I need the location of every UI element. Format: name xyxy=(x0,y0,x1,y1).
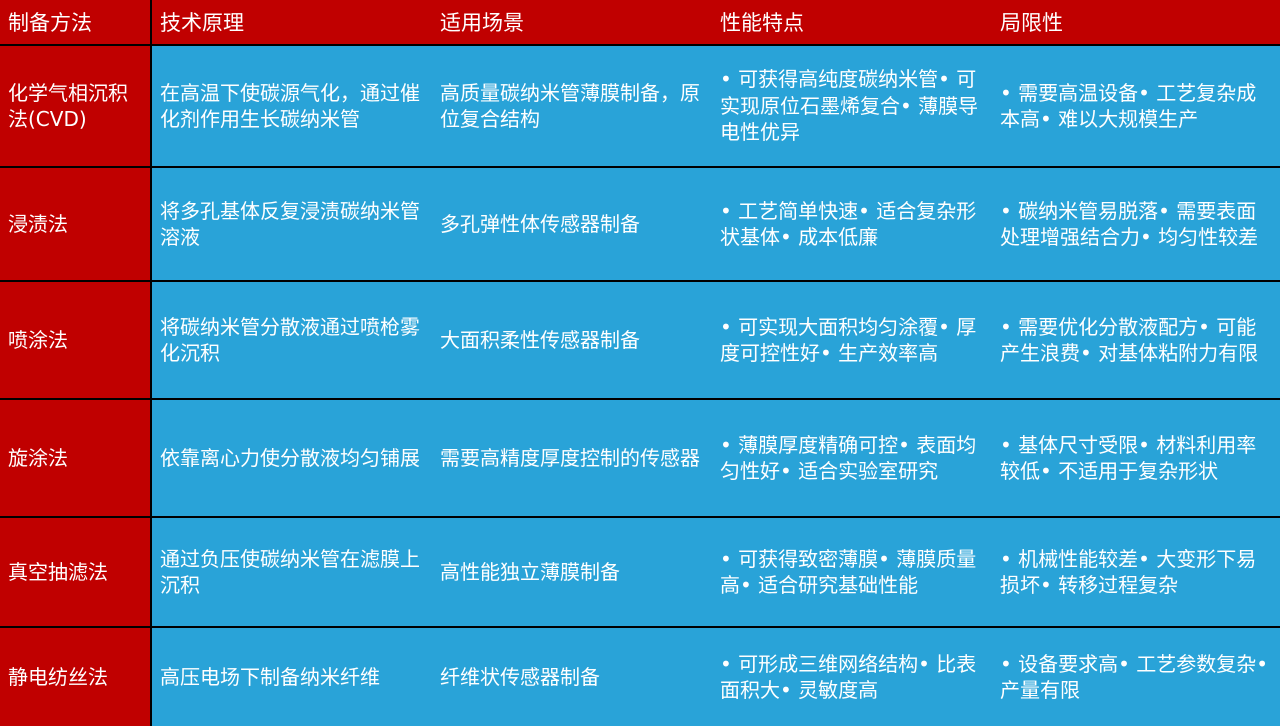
cell-limitation: • 需要高温设备• 工艺复杂成本高• 难以大规模生产 xyxy=(992,46,1280,166)
cell-limitation: • 机械性能较差• 大变形下易损坏• 转移过程复杂 xyxy=(992,518,1280,626)
cell-limitation: • 需要优化分散液配方• 可能产生浪费• 对基体粘附力有限 xyxy=(992,282,1280,398)
column-header-limitation: 局限性 xyxy=(992,0,1280,44)
cell-principle: 高压电场下制备纳米纤维 xyxy=(152,628,432,726)
cell-principle: 将多孔基体反复浸渍碳纳米管溶液 xyxy=(152,168,432,280)
cell-scenario: 多孔弹性体传感器制备 xyxy=(432,168,712,280)
cell-principle: 将碳纳米管分散液通过喷枪雾化沉积 xyxy=(152,282,432,398)
cell-principle: 在高温下使碳源气化，通过催化剂作用生长碳纳米管 xyxy=(152,46,432,166)
cell-limitation: • 设备要求高• 工艺参数复杂• 产量有限 xyxy=(992,628,1280,726)
cell-method: 旋涂法 xyxy=(0,400,150,516)
cell-limitation: • 碳纳米管易脱落• 需要表面处理增强结合力• 均匀性较差 xyxy=(992,168,1280,280)
cell-scenario: 需要高精度厚度控制的传感器 xyxy=(432,400,712,516)
column-header-performance: 性能特点 xyxy=(712,0,992,44)
cell-scenario: 高性能独立薄膜制备 xyxy=(432,518,712,626)
cell-scenario: 纤维状传感器制备 xyxy=(432,628,712,726)
table-row: 浸渍法 将多孔基体反复浸渍碳纳米管溶液 多孔弹性体传感器制备 • 工艺简单快速•… xyxy=(0,166,1280,280)
cell-performance: • 可形成三维网络结构• 比表面积大• 灵敏度高 xyxy=(712,628,992,726)
cell-principle: 依靠离心力使分散液均匀铺展 xyxy=(152,400,432,516)
table-row: 旋涂法 依靠离心力使分散液均匀铺展 需要高精度厚度控制的传感器 • 薄膜厚度精确… xyxy=(0,398,1280,516)
cell-performance: • 工艺简单快速• 适合复杂形状基体• 成本低廉 xyxy=(712,168,992,280)
table-row: 真空抽滤法 通过负压使碳纳米管在滤膜上沉积 高性能独立薄膜制备 • 可获得致密薄… xyxy=(0,516,1280,626)
table-row: 静电纺丝法 高压电场下制备纳米纤维 纤维状传感器制备 • 可形成三维网络结构• … xyxy=(0,626,1280,726)
cell-scenario: 大面积柔性传感器制备 xyxy=(432,282,712,398)
cell-method: 静电纺丝法 xyxy=(0,628,150,726)
table-row: 喷涂法 将碳纳米管分散液通过喷枪雾化沉积 大面积柔性传感器制备 • 可实现大面积… xyxy=(0,280,1280,398)
table-body: 化学气相沉积法(CVD) 在高温下使碳源气化，通过催化剂作用生长碳纳米管 高质量… xyxy=(0,44,1280,726)
column-header-method: 制备方法 xyxy=(0,0,150,44)
table-header-row: 制备方法 技术原理 适用场景 性能特点 局限性 xyxy=(0,0,1280,44)
cell-method: 喷涂法 xyxy=(0,282,150,398)
cell-principle: 通过负压使碳纳米管在滤膜上沉积 xyxy=(152,518,432,626)
comparison-table: 制备方法 技术原理 适用场景 性能特点 局限性 化学气相沉积法(CVD) 在高温… xyxy=(0,0,1280,726)
cell-performance: • 可实现大面积均匀涂覆• 厚度可控性好• 生产效率高 xyxy=(712,282,992,398)
column-header-principle: 技术原理 xyxy=(152,0,432,44)
cell-method: 化学气相沉积法(CVD) xyxy=(0,46,150,166)
cell-limitation: • 基体尺寸受限• 材料利用率较低• 不适用于复杂形状 xyxy=(992,400,1280,516)
cell-scenario: 高质量碳纳米管薄膜制备，原位复合结构 xyxy=(432,46,712,166)
column-header-scenario: 适用场景 xyxy=(432,0,712,44)
table-row: 化学气相沉积法(CVD) 在高温下使碳源气化，通过催化剂作用生长碳纳米管 高质量… xyxy=(0,44,1280,166)
cell-method: 浸渍法 xyxy=(0,168,150,280)
cell-performance: • 薄膜厚度精确可控• 表面均匀性好• 适合实验室研究 xyxy=(712,400,992,516)
cell-method: 真空抽滤法 xyxy=(0,518,150,626)
cell-performance: • 可获得致密薄膜• 薄膜质量高• 适合研究基础性能 xyxy=(712,518,992,626)
cell-performance: • 可获得高纯度碳纳米管• 可实现原位石墨烯复合• 薄膜导电性优异 xyxy=(712,46,992,166)
